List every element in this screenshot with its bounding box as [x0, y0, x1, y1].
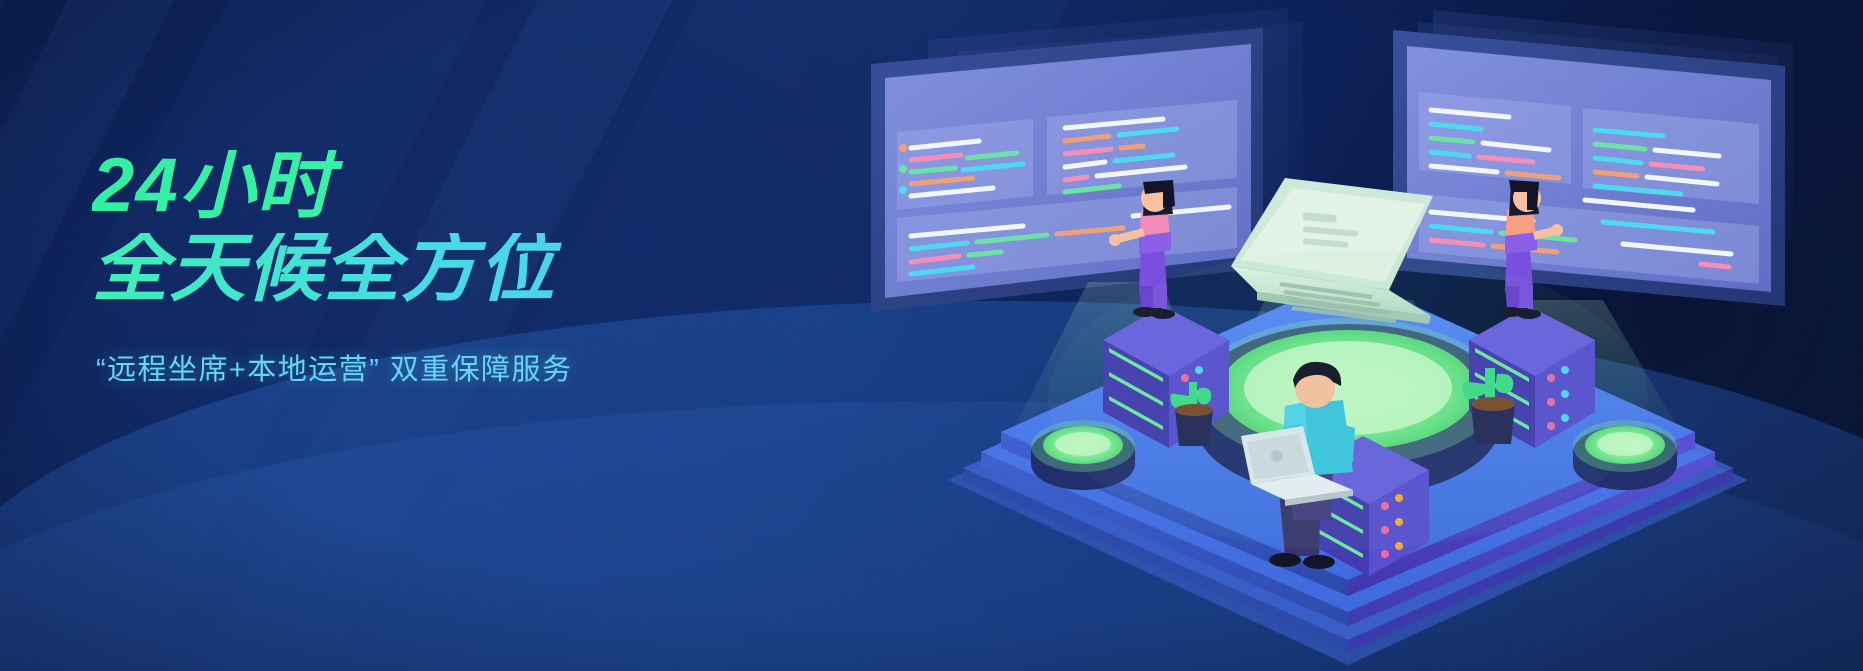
subtitle: “远程坐席+本地运营” 双重保障服务: [96, 346, 852, 388]
promo-banner: 24小时 全天候全方位 “远程坐席+本地运营” 双重保障服务: [0, 0, 1863, 671]
isometric-illustration: [833, 0, 1863, 671]
copy-block: 24小时 全天候全方位 “远程坐席+本地运营” 双重保障服务: [92, 150, 852, 388]
headline-line-1: 24小时: [92, 150, 852, 223]
page-title: 24小时 全天候全方位: [92, 150, 852, 306]
headline-line-2: 全天候全方位: [92, 233, 852, 306]
